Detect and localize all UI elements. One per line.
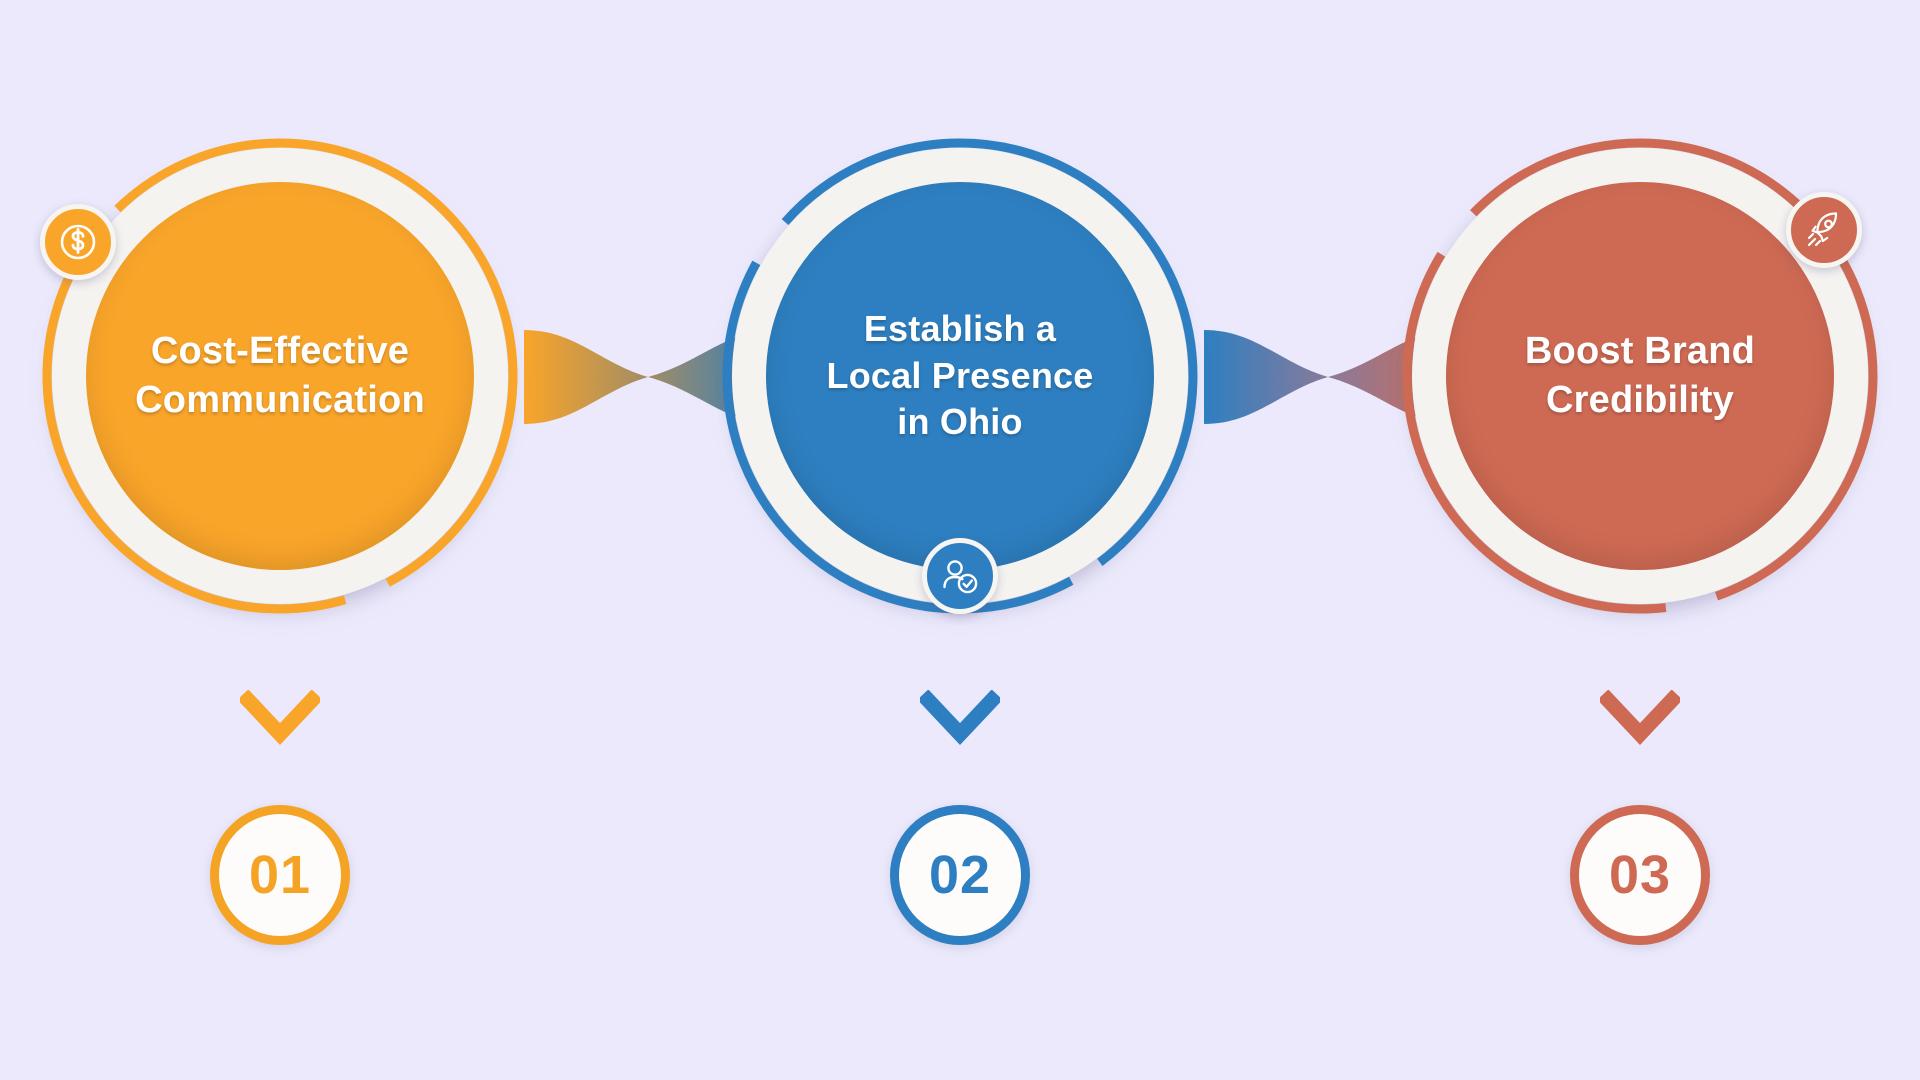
step-02-number-badge[interactable]: 02 bbox=[890, 805, 1030, 945]
step-01-chevron-down-icon bbox=[240, 690, 320, 748]
step-03-title: Boost Brand Credibility bbox=[1503, 327, 1777, 426]
step-01-number: 01 bbox=[249, 848, 311, 902]
step-02-title: Establish a Local Presence in Ohio bbox=[805, 306, 1116, 446]
user-verified-icon[interactable] bbox=[922, 538, 998, 614]
step-03-chevron-down-icon bbox=[1600, 690, 1680, 748]
step-03-disc: Boost Brand Credibility bbox=[1446, 182, 1834, 570]
step-02-circle[interactable]: Establish a Local Presence in Ohio bbox=[710, 130, 1210, 630]
step-03-circle[interactable]: Boost Brand Credibility bbox=[1390, 130, 1890, 630]
step-01[interactable]: Cost-Effective Communication 01 bbox=[20, 0, 540, 1080]
step-01-circle[interactable]: Cost-Effective Communication bbox=[30, 130, 530, 630]
step-02-number: 02 bbox=[929, 848, 991, 902]
step-02-disc: Establish a Local Presence in Ohio bbox=[766, 182, 1154, 570]
step-03-number: 03 bbox=[1609, 848, 1671, 902]
user-verified-icon-glyph bbox=[938, 554, 982, 598]
step-03[interactable]: Boost Brand Credibility 03 bbox=[1380, 0, 1900, 1080]
step-03-number-badge[interactable]: 03 bbox=[1570, 805, 1710, 945]
rocket-icon[interactable] bbox=[1786, 192, 1862, 268]
step-02[interactable]: Establish a Local Presence in Ohio 02 bbox=[700, 0, 1220, 1080]
step-01-title: Cost-Effective Communication bbox=[113, 327, 447, 426]
step-02-chevron-down-icon bbox=[920, 690, 1000, 748]
infographic-canvas: Cost-Effective Communication 01 bbox=[0, 0, 1920, 1080]
step-01-number-badge[interactable]: 01 bbox=[210, 805, 350, 945]
rocket-icon-glyph bbox=[1802, 208, 1846, 252]
dollar-icon-glyph bbox=[57, 221, 99, 263]
dollar-icon[interactable] bbox=[40, 204, 116, 280]
step-01-disc: Cost-Effective Communication bbox=[86, 182, 474, 570]
